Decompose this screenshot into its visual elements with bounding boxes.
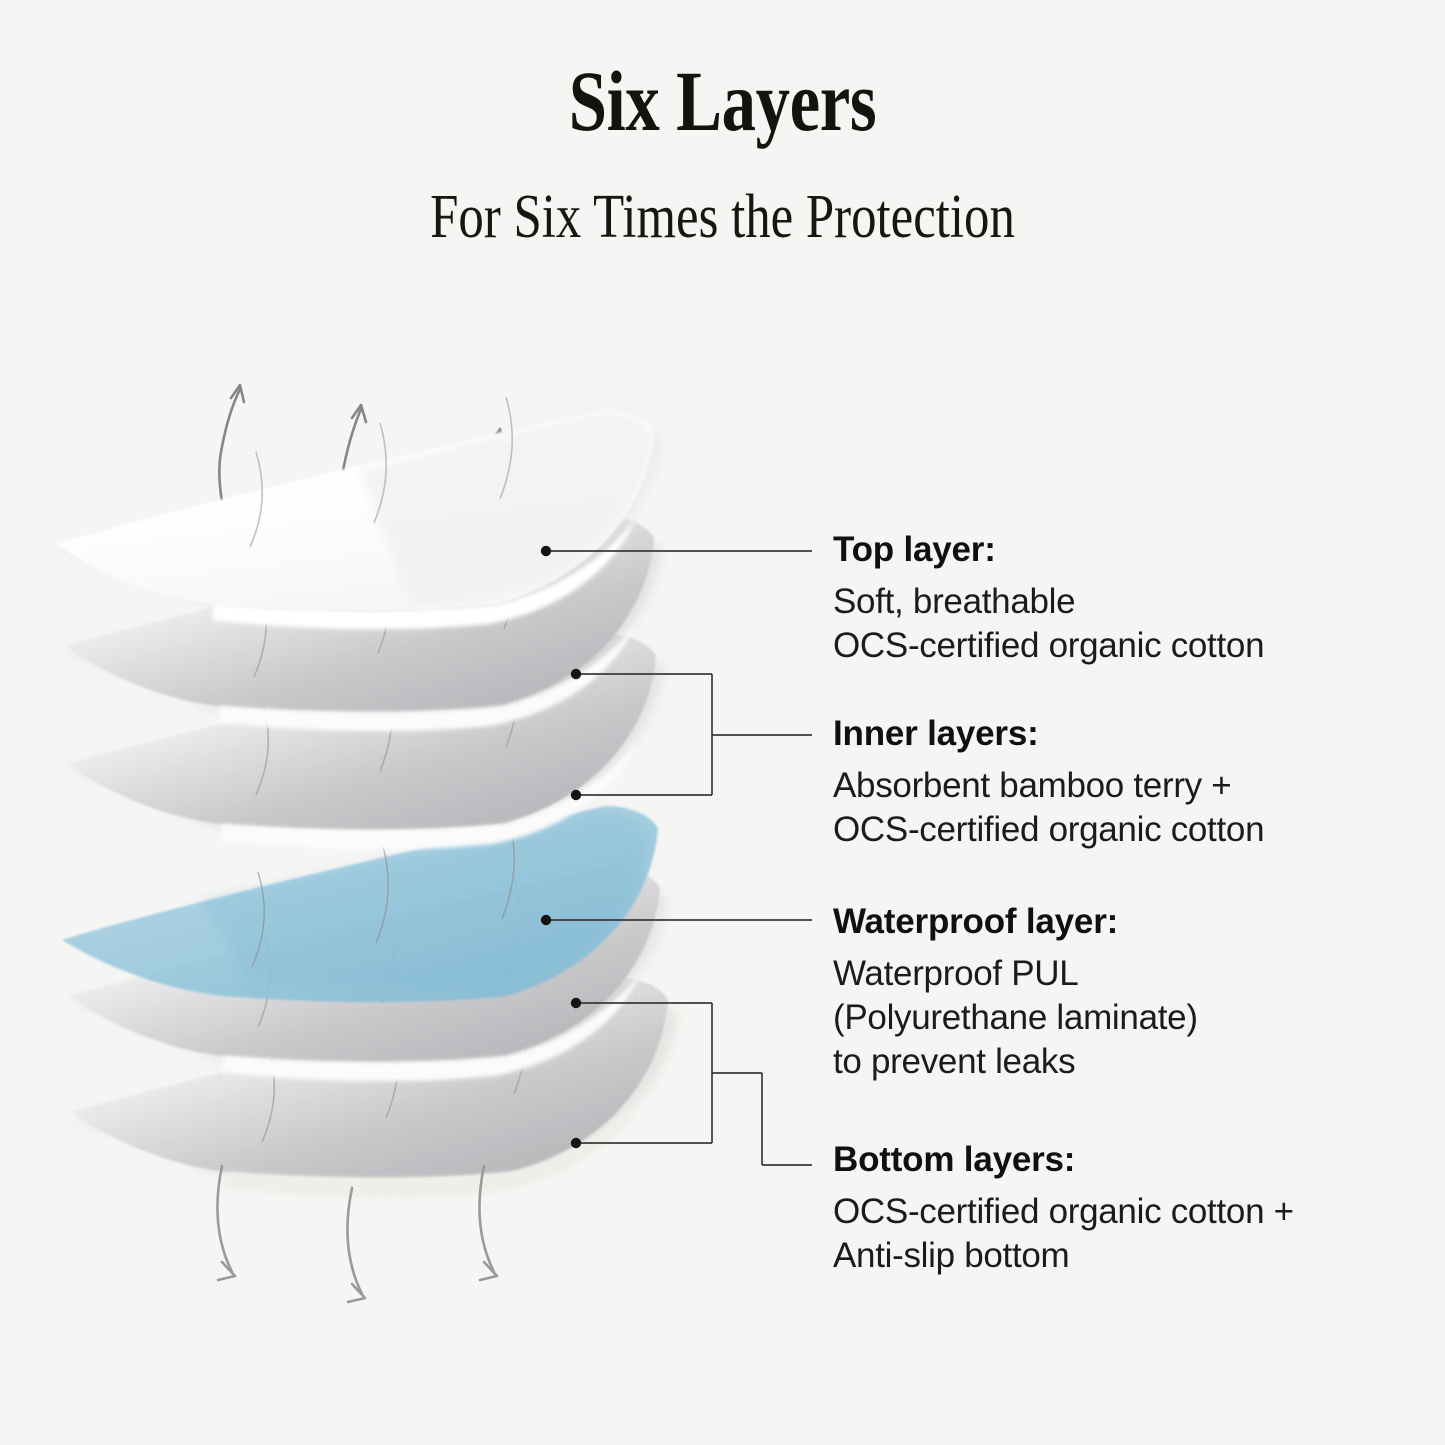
callout-heading: Bottom layers:	[833, 1138, 1294, 1182]
callout-line: OCS-certified organic cotton +	[833, 1190, 1294, 1234]
callout-inner-layers: Inner layers: Absorbent bamboo terry + O…	[833, 712, 1264, 852]
callout-line: Anti-slip bottom	[833, 1234, 1294, 1278]
callout-line: OCS-certified organic cotton	[833, 808, 1264, 852]
callout-line: Waterproof PUL	[833, 952, 1198, 996]
callout-heading: Waterproof layer:	[833, 900, 1198, 944]
callout-bottom-layers: Bottom layers: OCS-certified organic cot…	[833, 1138, 1294, 1278]
callout-waterproof-layer: Waterproof layer: Waterproof PUL (Polyur…	[833, 900, 1198, 1084]
callout-line: Soft, breathable	[833, 580, 1264, 624]
callout-line: (Polyurethane laminate)	[833, 996, 1198, 1040]
infographic-page: Six Layers For Six Times the Protection	[0, 0, 1445, 1445]
callout-line: to prevent leaks	[833, 1040, 1198, 1084]
callout-heading: Top layer:	[833, 528, 1264, 572]
callout-top-layer: Top layer: Soft, breathable OCS-certifie…	[833, 528, 1264, 668]
callout-line: OCS-certified organic cotton	[833, 624, 1264, 668]
callout-heading: Inner layers:	[833, 712, 1264, 756]
callout-line: Absorbent bamboo terry +	[833, 764, 1264, 808]
